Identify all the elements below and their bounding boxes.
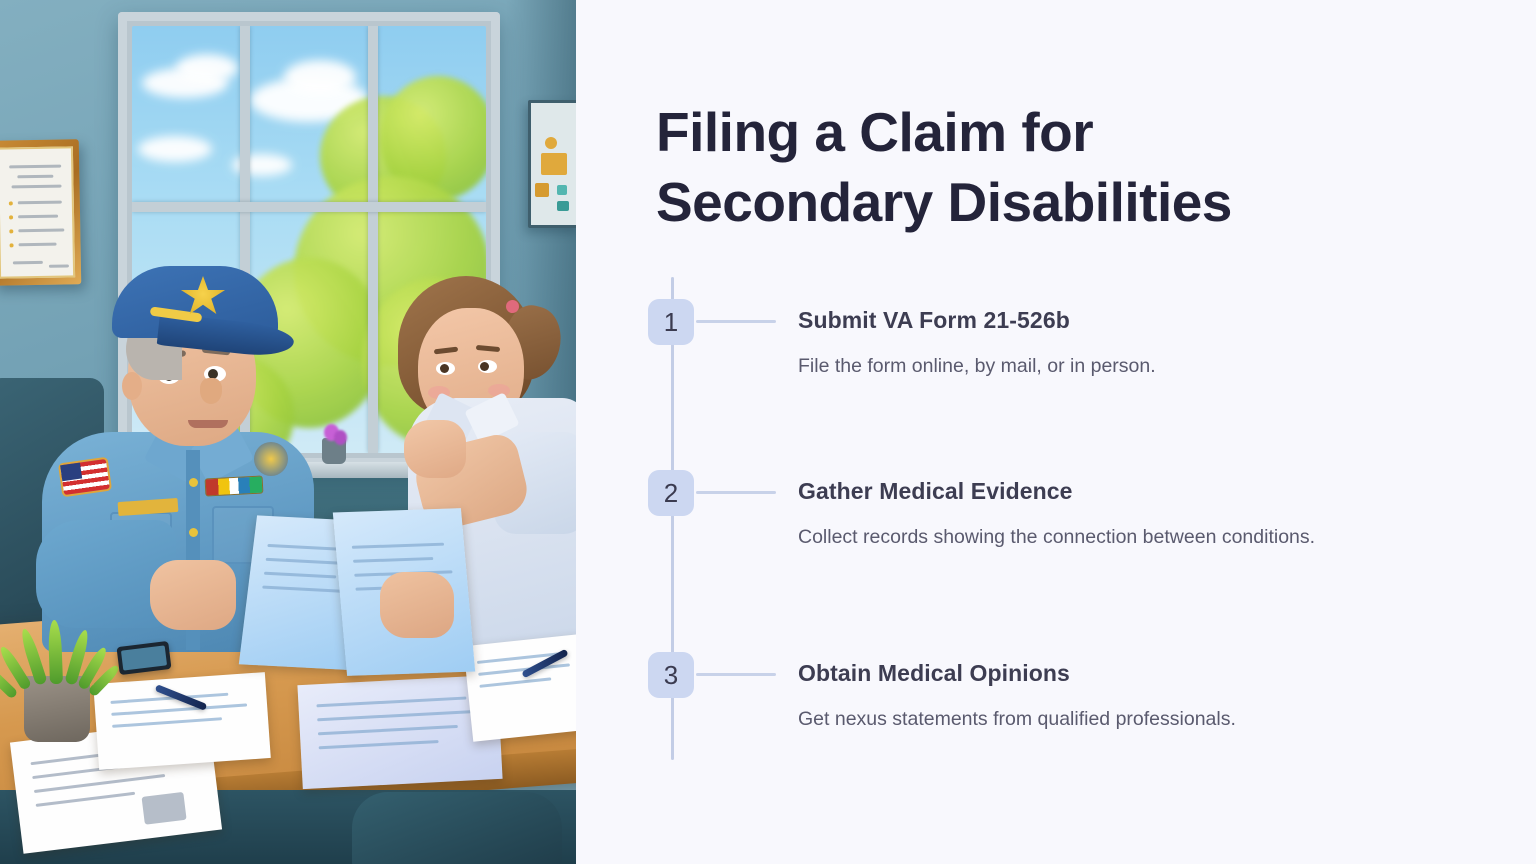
caseworker-hand [404, 420, 466, 478]
office-chair-front [352, 792, 562, 864]
uniform-button [189, 528, 198, 537]
step-title-1: Submit VA Form 21-526b [798, 307, 1438, 334]
timeline-step-2[interactable]: 2 Gather Medical Evidence Collect record… [656, 470, 1456, 662]
document-page [93, 672, 271, 770]
step-description-1: File the form online, by mail, or in per… [798, 348, 1358, 385]
content-panel: Filing a Claim for Secondary Disabilitie… [576, 0, 1536, 864]
step-title-2: Gather Medical Evidence [798, 478, 1438, 505]
step-body-2: Gather Medical Evidence Collect records … [798, 478, 1438, 556]
step-number-badge-3: 3 [648, 652, 694, 698]
wall-poster [528, 100, 576, 228]
veteran-ear [122, 372, 142, 400]
step-body-3: Obtain Medical Opinions Get nexus statem… [798, 660, 1438, 738]
step-connector-3 [696, 673, 776, 676]
page-title-line-1: Filing a Claim for [656, 101, 1093, 163]
step-number-badge-2: 2 [648, 470, 694, 516]
step-number-2: 2 [664, 478, 678, 509]
flower-bloom [334, 430, 347, 445]
us-flag-patch [60, 459, 110, 495]
step-number-3: 3 [664, 660, 678, 691]
step-title-3: Obtain Medical Opinions [798, 660, 1438, 687]
hair-tie [506, 300, 519, 313]
phone-screen [121, 645, 167, 670]
step-connector-1 [696, 320, 776, 323]
service-ribbons [206, 477, 263, 496]
step-number-1: 1 [664, 307, 678, 338]
illustration-panel [0, 0, 576, 864]
shoulder-patch [254, 442, 288, 476]
framed-certificate [0, 139, 81, 286]
page-title-line-2: Secondary Disabilities [656, 171, 1232, 233]
flag-canton [60, 463, 82, 482]
uniform-button [189, 478, 198, 487]
step-connector-2 [696, 491, 776, 494]
timeline-step-3[interactable]: 3 Obtain Medical Opinions Get nexus stat… [656, 662, 1456, 782]
certificate-mat [0, 146, 75, 278]
step-number-badge-1: 1 [648, 299, 694, 345]
veteran-nose [200, 378, 222, 404]
timeline-step-1[interactable]: 1 Submit VA Form 21-526b File the form o… [656, 277, 1456, 470]
document-page [463, 634, 576, 742]
steps-timeline: 1 Submit VA Form 21-526b File the form o… [656, 277, 1456, 782]
veteran-mouth [188, 420, 228, 428]
step-description-3: Get nexus statements from qualified prof… [798, 701, 1358, 738]
step-body-1: Submit VA Form 21-526b File the form onl… [798, 307, 1438, 385]
step-description-2: Collect records showing the connection b… [798, 519, 1358, 556]
veteran-hand-right [380, 572, 454, 638]
veteran-hand-left [150, 560, 236, 630]
page-title: Filing a Claim for Secondary Disabilitie… [656, 98, 1356, 238]
